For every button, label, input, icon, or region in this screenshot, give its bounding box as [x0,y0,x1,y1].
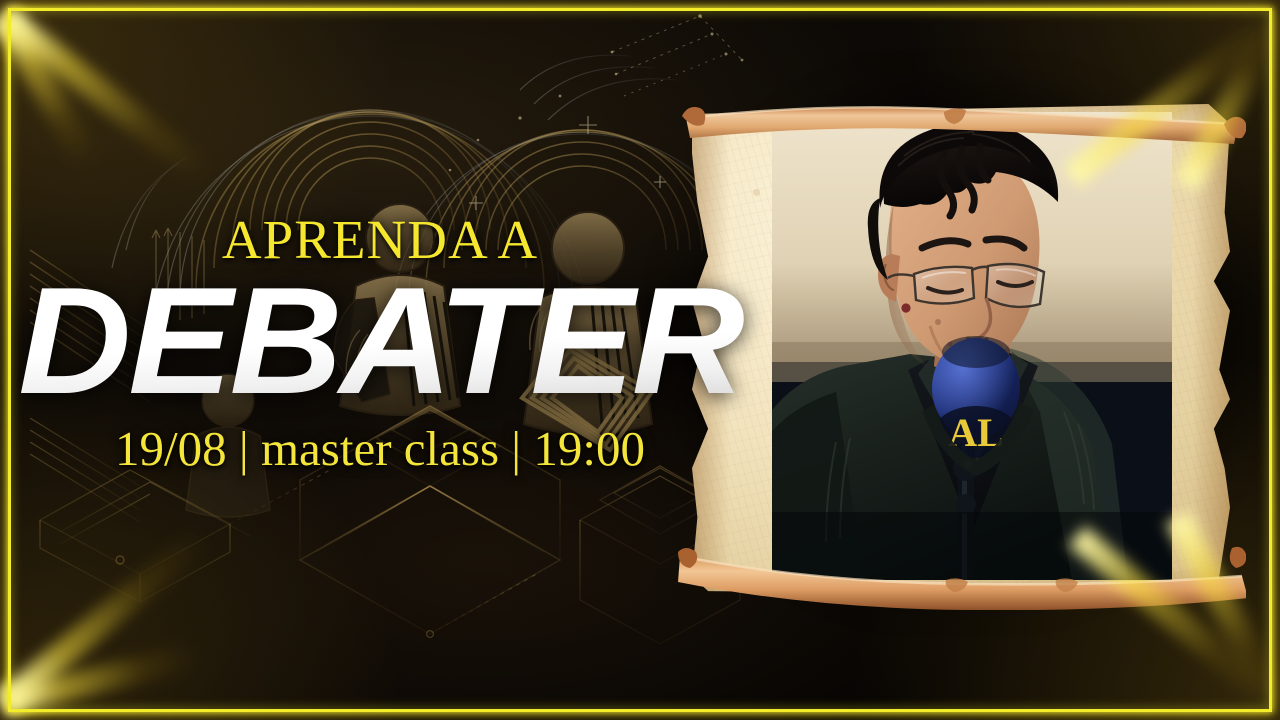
page-title: DEBATER [0,265,771,417]
poster-canvas: AL [0,0,1280,720]
event-details-text: 19/08 | master class | 19:00 [0,424,760,473]
scroll-top-roll [676,88,1246,148]
speaker-photo: AL [772,112,1172,580]
scroll-bottom-roll [676,540,1246,610]
speaker-illustration: AL [772,112,1172,580]
